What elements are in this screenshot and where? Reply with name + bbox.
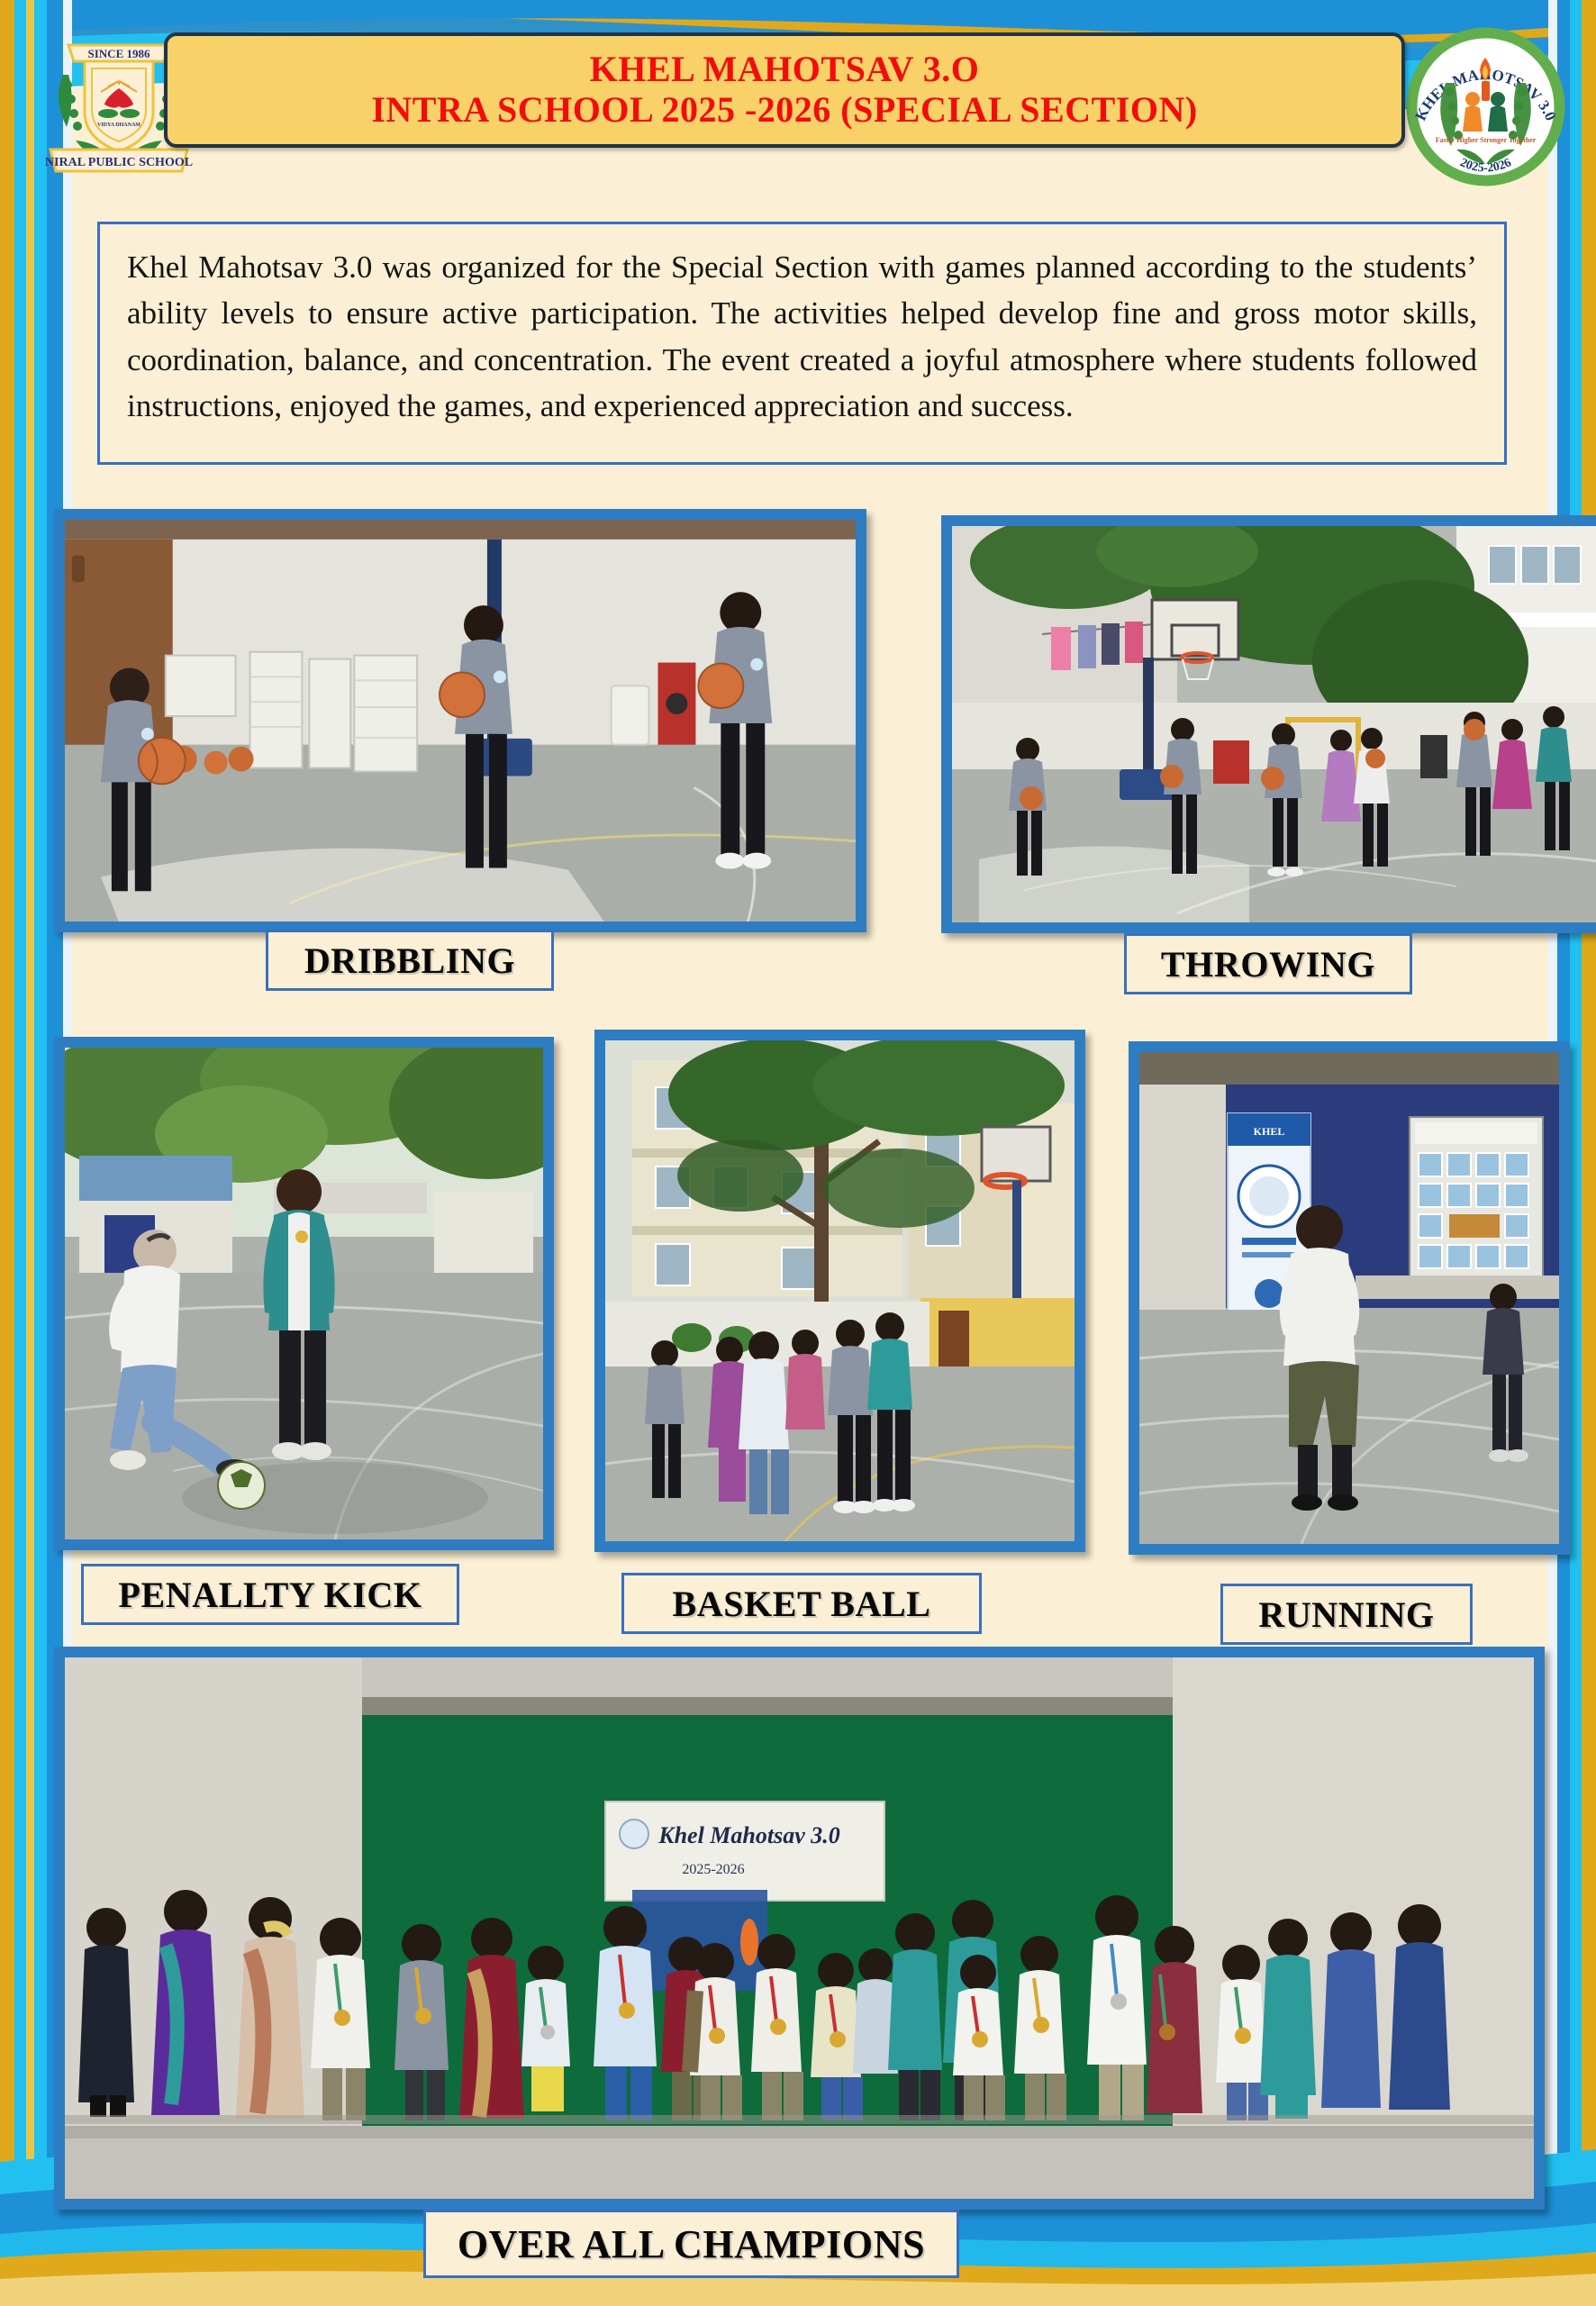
- photo-over-all-champions-svg: Khel Mahotsav 3.0 2025-2026: [65, 1657, 1534, 2199]
- poster-content: VIDYA DHANAM SINCE 1986 NIRAL PUBLIC SCH…: [54, 16, 1549, 2259]
- poster-title-line-1: KHEL MAHOTSAV 3.O: [590, 50, 980, 90]
- svg-text:VIDYA DHANAM: VIDYA DHANAM: [97, 123, 141, 128]
- photo-frame-running: KHEL: [1129, 1041, 1570, 1555]
- crest-since-text: SINCE 1986: [88, 47, 150, 60]
- photo-frame-throwing: [941, 515, 1596, 933]
- caption-throwing: THROWING: [1124, 933, 1412, 994]
- caption-basket-ball-text: BASKET BALL: [672, 1583, 930, 1625]
- photo-running: KHEL: [1139, 1052, 1559, 1544]
- photo-frame-dribbling: [54, 509, 866, 932]
- khel-mahotsav-emblem-svg: KHEL MAHOTSAV 3.0: [1402, 23, 1569, 190]
- photo-basket-ball-svg: [605, 1040, 1075, 1541]
- caption-dribbling: DRIBBLING: [266, 930, 554, 991]
- photo-dribbling-svg: [65, 520, 856, 921]
- caption-throwing-text: THROWING: [1161, 943, 1375, 985]
- backdrop-banner-year: 2025-2026: [682, 1862, 744, 1877]
- caption-over-all-champions: OVER ALL CHAMPIONS: [423, 2210, 959, 2278]
- photo-dribbling: [65, 520, 856, 921]
- photo-frame-basket-ball: [594, 1030, 1085, 1552]
- caption-dribbling-text: DRIBBLING: [304, 940, 515, 982]
- event-description-text: Khel Mahotsav 3.0 was organized for the …: [127, 244, 1477, 430]
- svg-text:KHEL: KHEL: [1254, 1125, 1285, 1138]
- photo-running-svg: KHEL: [1139, 1052, 1559, 1544]
- poster-page: VIDYA DHANAM SINCE 1986 NIRAL PUBLIC SCH…: [0, 0, 1596, 2306]
- caption-penalty-kick-text: PENALLTY KICK: [118, 1574, 422, 1616]
- photo-frame-over-all-champions: Khel Mahotsav 3.0 2025-2026: [54, 1647, 1545, 2210]
- event-description-box: Khel Mahotsav 3.0 was organized for the …: [97, 222, 1507, 465]
- photo-throwing: [952, 526, 1596, 922]
- crest-school-name-text: NIRAL PUBLIC SCHOOL: [45, 156, 193, 169]
- photo-over-all-champions: Khel Mahotsav 3.0 2025-2026: [65, 1657, 1534, 2199]
- poster-title-banner: KHEL MAHOTSAV 3.O INTRA SCHOOL 2025 -202…: [164, 32, 1405, 148]
- photo-penalty-kick-svg: [65, 1048, 543, 1539]
- poster-title-line-2: INTRA SCHOOL 2025 -2026 (SPECIAL SECTION…: [371, 90, 1197, 131]
- photo-frame-penalty-kick: [54, 1037, 554, 1550]
- photo-penalty-kick: [65, 1048, 543, 1539]
- backdrop-banner-title: Khel Mahotsav 3.0: [657, 1822, 840, 1848]
- photo-throwing-svg: [952, 526, 1596, 922]
- photo-basket-ball: [605, 1040, 1075, 1541]
- caption-penalty-kick: PENALLTY KICK: [81, 1564, 459, 1625]
- caption-running: RUNNING: [1220, 1584, 1473, 1645]
- poster-header: VIDYA DHANAM SINCE 1986 NIRAL PUBLIC SCH…: [54, 16, 1549, 196]
- khel-mahotsav-emblem-icon: KHEL MAHOTSAV 3.0: [1402, 23, 1569, 190]
- caption-running-text: RUNNING: [1258, 1593, 1434, 1636]
- caption-over-all-champions-text: OVER ALL CHAMPIONS: [458, 2221, 925, 2267]
- emblem-motto-text: Faster Higher Stronger Together: [1436, 136, 1537, 144]
- caption-basket-ball: BASKET BALL: [621, 1573, 982, 1634]
